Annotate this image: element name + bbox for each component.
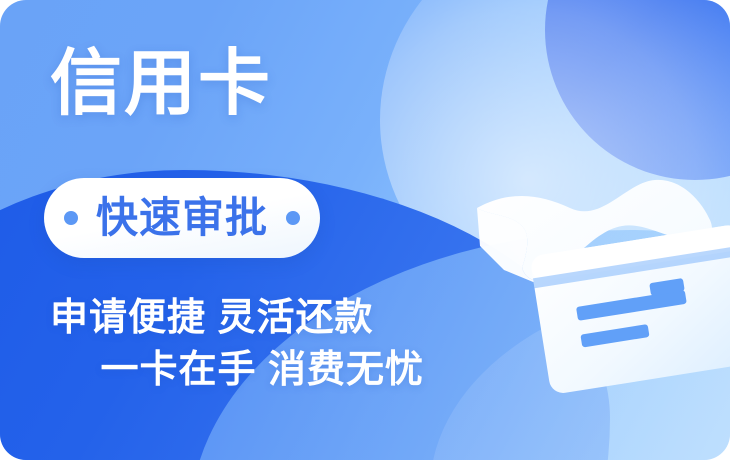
fast-approval-badge[interactable]: 快速审批 bbox=[44, 178, 320, 258]
page-title: 信用卡 bbox=[50, 48, 272, 120]
banner-content: 信用卡 快速审批 申请便捷 灵活还款 一卡在手 消费无忧 bbox=[0, 0, 440, 460]
credit-card-promo-banner: 信用卡 快速审批 申请便捷 灵活还款 一卡在手 消费无忧 bbox=[0, 0, 730, 460]
badge-right-dot-icon bbox=[286, 211, 300, 225]
tagline-line-2: 一卡在手 消费无忧 bbox=[50, 344, 430, 396]
badge-left-dot-icon bbox=[64, 211, 78, 225]
badge-label: 快速审批 bbox=[96, 197, 268, 239]
tagline-line-1: 申请便捷 灵活还款 bbox=[50, 292, 430, 344]
credit-card-illustration bbox=[430, 150, 730, 460]
tagline-group: 申请便捷 灵活还款 一卡在手 消费无忧 bbox=[50, 292, 430, 397]
